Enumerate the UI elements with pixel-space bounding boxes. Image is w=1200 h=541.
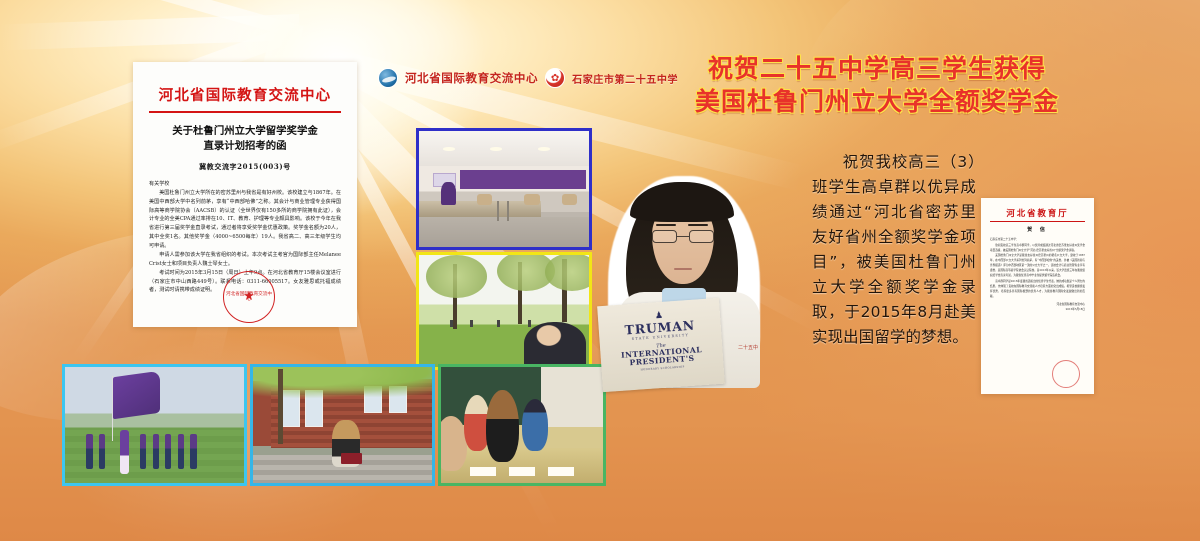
- shirt-logo-label: 二十五中: [738, 344, 758, 351]
- official-seal-stamp: 河北省国际教育交流中心: [223, 271, 275, 323]
- campus-building-scene: [253, 367, 432, 483]
- left-letter-subject-line1: 关于杜鲁门州立大学留学奖学金: [149, 124, 341, 139]
- exchange-center-logo-icon: [378, 68, 398, 88]
- eyebrow: [688, 224, 708, 226]
- congratulation-body-text: 祝贺我校高三（3）班学生高卓群以优异成绩通过“河北省密苏里友好省州全额奖学金项目…: [812, 150, 976, 350]
- student: [438, 416, 467, 472]
- eyeglasses-icon: [652, 230, 714, 243]
- band-member: [190, 434, 196, 469]
- left-letter-subject: 关于杜鲁门州立大学留学奖学金 直录计划招考的函: [149, 124, 341, 154]
- banner-headline: 祝贺二十五中学高三学生获得 美国杜鲁门州立大学全额奖学金: [662, 52, 1092, 118]
- band-member: [86, 434, 92, 469]
- laptop: [341, 453, 362, 465]
- left-official-letter: 河北省国际教育交流中心 关于杜鲁门州立大学留学奖学金 直录计划招考的函 冀教交流…: [133, 62, 357, 327]
- left-letter-paragraph: 美国杜鲁门州立大学所在的密苏里州与我省是有好州校。该校建立与1867年。在美国中…: [149, 189, 341, 250]
- band-member: [165, 434, 171, 469]
- flag-bearer: [120, 430, 129, 474]
- stool: [507, 201, 509, 222]
- right-letter-org-title: 河北省教育厅: [990, 207, 1085, 219]
- classroom-scene: [441, 367, 603, 483]
- person-at-desk: [441, 182, 456, 205]
- student-with-laptop-photo: [250, 364, 435, 486]
- campus-scene: [419, 255, 589, 367]
- notebook: [509, 467, 535, 476]
- right-letter-seal-stamp: [1052, 360, 1080, 388]
- purple-display-wall: [460, 170, 586, 189]
- marching-band-photo: [62, 364, 247, 486]
- exchange-center-logo-label: 河北省国际教育交流中心: [405, 70, 538, 86]
- left-letter-salutation: 有关学校: [149, 180, 341, 189]
- person: [528, 320, 531, 327]
- left-letter-doc-code: 冀教交流字2015(003)号: [149, 162, 341, 172]
- band-member: [178, 434, 184, 469]
- lounge-chair: [524, 194, 539, 206]
- left-letter-paragraph: 申请人需参加该大学在我省组织的考试。本次考试主考官为国际部主任Melanee C…: [149, 251, 341, 269]
- ceiling-light: [538, 147, 550, 150]
- ceiling-light: [443, 147, 455, 150]
- band-member: [99, 434, 105, 469]
- notebook: [470, 467, 496, 476]
- right-letter-paragraph: 美国杜鲁门州立大学是我省友好省州密苏里州的著名公立大学，建校于1867年，在中西…: [990, 253, 1085, 278]
- band-member: [140, 434, 146, 469]
- student: [522, 399, 548, 450]
- left-letter-divider: [149, 111, 341, 113]
- right-letter-salutation: 石家庄市第二十五中学：: [990, 237, 1085, 242]
- notebook: [548, 467, 574, 476]
- eyebrow: [656, 224, 676, 226]
- lounge-chair: [562, 194, 577, 206]
- tree-canopy: [545, 253, 592, 291]
- school-logo-icon: [545, 68, 565, 88]
- ceiling-light: [490, 147, 502, 150]
- lobby-scene: [419, 131, 589, 247]
- stool: [497, 201, 499, 222]
- purple-flag: [113, 371, 160, 419]
- left-letter-org-title: 河北省国际教育交流中心: [149, 84, 341, 110]
- person: [450, 320, 453, 327]
- person: [497, 320, 500, 327]
- right-letter-paragraph: 欣闻贵校高三学生高卓群同学，以优异成绩通过河北省密苏里友好省州奖学金项目选拔，被…: [990, 243, 1085, 253]
- promotional-banner: 河北省国际教育交流中心 关于杜鲁门州立大学留学奖学金 直录计划招考的函 冀教交流…: [0, 0, 1200, 541]
- student: [486, 390, 518, 462]
- headline-line-2: 美国杜鲁门州立大学全额奖学金: [662, 85, 1092, 118]
- stadium-scene: [65, 367, 244, 483]
- tree-trunk: [278, 369, 283, 443]
- classroom-wall: [541, 367, 603, 427]
- right-letter-divider: [990, 221, 1085, 222]
- right-letter-signature: 河北省国际教育交流中心 2015年5月18日: [990, 303, 1085, 313]
- logo-bar: 河北省国际教育交流中心 石家庄市第二十五中学: [378, 68, 678, 88]
- right-letter-subject: 贺 信: [990, 226, 1085, 233]
- left-letter-subject-line2: 直录计划招考的函: [149, 139, 341, 154]
- person: [470, 320, 473, 327]
- floor: [419, 217, 589, 247]
- right-letter-signature-date: 2015年5月18日: [990, 308, 1085, 313]
- right-congratulation-letter: 河北省教育厅 贺 信 石家庄市第二十五中学： 欣闻贵校高三学生高卓群同学，以优异…: [981, 198, 1094, 394]
- university-lobby-photo: [416, 128, 592, 250]
- lounge-chair: [477, 194, 492, 206]
- seal-text: 河北省国际教育交流中心: [226, 292, 272, 303]
- student-holding-certificate: 二十五中 ♟ TRUMAN STATE UNIVERSITY The INTER…: [600, 176, 776, 388]
- tree-canopy: [426, 255, 487, 298]
- right-letter-body: 石家庄市第二十五中学： 欣闻贵校高三学生高卓群同学，以优异成绩通过河北省密苏里友…: [990, 237, 1085, 299]
- truman-certificate: ♟ TRUMAN STATE UNIVERSITY The INTERNATIO…: [597, 298, 725, 392]
- campus-lawn-photo: [416, 252, 592, 370]
- headline-line-1: 祝贺二十五中学高三学生获得: [662, 52, 1092, 85]
- classroom-students-photo: [438, 364, 606, 486]
- student-foreground: [524, 322, 585, 367]
- right-letter-paragraph: 高卓群同学是2015年度我省选拔出的优秀学生代表，她的成功既是个人努力的结果，也…: [990, 279, 1085, 299]
- band-member: [153, 434, 159, 469]
